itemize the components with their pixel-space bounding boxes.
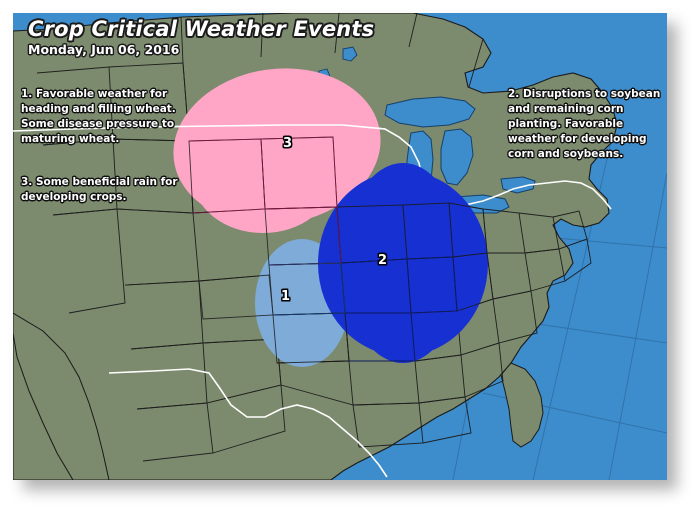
region-2-dark-blue-extension[interactable] (343, 163, 463, 363)
annotation-3: 3. Some beneficial rain for developing c… (21, 175, 186, 205)
region-label-1: 1 (281, 290, 290, 303)
page-title: Crop Critical Weather Events (28, 17, 374, 41)
header-block: Crop Critical Weather Events Monday, Jun… (28, 17, 374, 57)
region-label-3: 3 (283, 137, 292, 150)
annotation-2: 2. Disruptions to soybean and remaining … (508, 87, 664, 162)
annotation-1-text: 1. Favorable weather for heading and fil… (21, 87, 181, 147)
weather-map[interactable]: 3 1 2 Crop Critical Weather Events Monda… (13, 13, 667, 480)
annotation-3-text: 3. Some beneficial rain for developing c… (21, 175, 186, 205)
page-date: Monday, Jun 06, 2016 (28, 42, 374, 57)
screenshot-root: 3 1 2 Crop Critical Weather Events Monda… (0, 0, 692, 512)
annotation-2-text: 2. Disruptions to soybean and remaining … (508, 87, 664, 162)
region-label-2: 2 (378, 254, 387, 267)
region-3-pink-extension[interactable] (193, 123, 333, 233)
annotation-1: 1. Favorable weather for heading and fil… (21, 87, 181, 147)
